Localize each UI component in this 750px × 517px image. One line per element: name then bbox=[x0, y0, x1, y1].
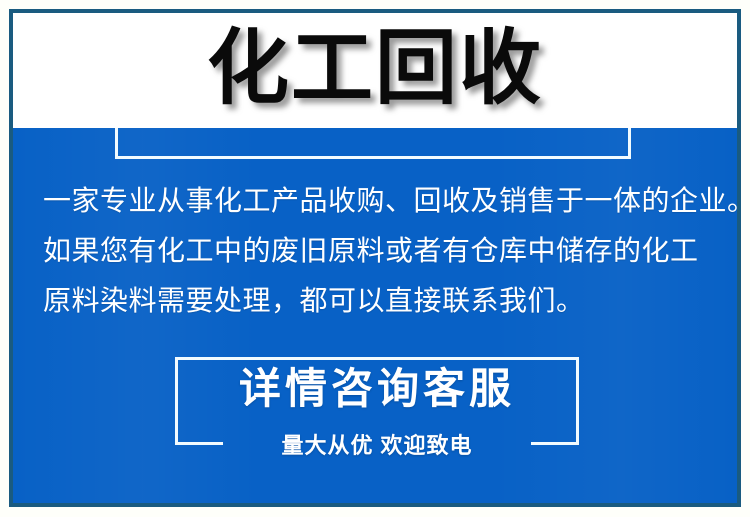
body-copy: 一家专业从事化工产品收购、回收及销售于一体的企业。 如果您有化工中的废旧原料或者… bbox=[13, 176, 737, 326]
body-line-3: 原料染料需要处理，都可以直接联系我们。 bbox=[43, 276, 737, 326]
promo-banner: 化工回收 一家专业从事化工产品收购、回收及销售于一体的企业。 如果您有化工中的废… bbox=[0, 0, 750, 517]
cta-headline: 详情咨询客服 bbox=[175, 363, 579, 416]
top-decorative-frame bbox=[115, 128, 631, 159]
body-line-2: 如果您有化工中的废旧原料或者有仓库中储存的化工 bbox=[43, 226, 737, 276]
headline-zone: 化工回收 bbox=[13, 13, 737, 128]
body-line-1: 一家专业从事化工产品收购、回收及销售于一体的企业。 bbox=[43, 176, 737, 226]
blue-content-panel: 一家专业从事化工产品收购、回收及销售于一体的企业。 如果您有化工中的废旧原料或者… bbox=[13, 128, 737, 503]
cta-frame-edge-top bbox=[175, 357, 579, 360]
cta-decorative-frame: 详情咨询客服 量大从优 欢迎致电 bbox=[175, 357, 579, 445]
cta-subtext: 量大从优 欢迎致电 bbox=[175, 428, 579, 460]
page-title: 化工回收 bbox=[13, 13, 737, 128]
